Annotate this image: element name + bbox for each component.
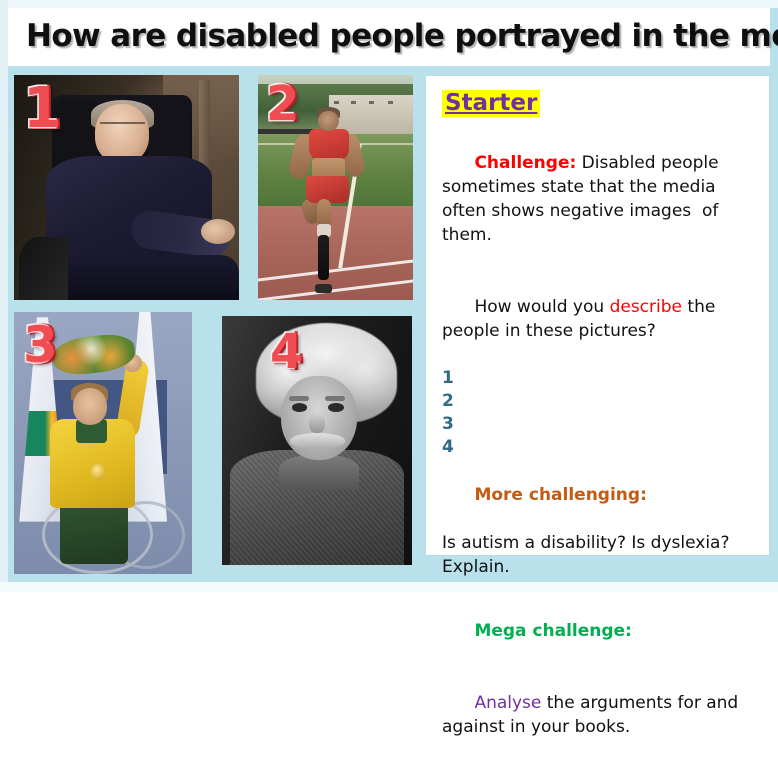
photo2-track bbox=[258, 206, 413, 301]
starter-heading-row: Starter bbox=[442, 90, 755, 127]
photo4-eyebrow-right bbox=[325, 396, 346, 401]
photo4-nose bbox=[309, 413, 324, 433]
mega-challenge-label: Mega challenge: bbox=[442, 595, 755, 667]
photo4-eye-right bbox=[328, 403, 343, 412]
photo2-sports-top bbox=[309, 129, 349, 161]
photo-number-2: 2 bbox=[266, 80, 299, 128]
describe-question: How would you describe the people in the… bbox=[442, 271, 755, 367]
photo2-window bbox=[351, 101, 356, 104]
photo3-head bbox=[73, 388, 107, 425]
mega-challenge-label-text: Mega challenge: bbox=[474, 621, 631, 641]
answer-slot-1: 1 bbox=[442, 367, 755, 390]
photo1-glasses bbox=[100, 122, 145, 131]
photo2-window bbox=[388, 101, 393, 104]
photo2-head bbox=[318, 111, 338, 131]
more-challenging-label: More challenging: bbox=[442, 459, 755, 531]
mega-challenge-text: Analyse the arguments for and against in… bbox=[442, 667, 755, 763]
photo-number-4: 4 bbox=[270, 328, 303, 376]
challenge-paragraph: Challenge: Disabled people sometimes sta… bbox=[442, 127, 755, 271]
photo-paralympic-runner-prosthetic: 2 bbox=[258, 75, 413, 300]
photo-wheelchair-medal-ceremony: 3 bbox=[14, 312, 192, 574]
challenge-label: Challenge: bbox=[474, 153, 576, 173]
panel-spacer bbox=[442, 579, 755, 595]
slide-frame-top bbox=[0, 0, 778, 8]
photo1-hand bbox=[201, 219, 235, 244]
photo2-lane-line bbox=[258, 276, 413, 300]
photo-albert-einstein: 4 bbox=[222, 316, 412, 565]
answer-slot-4: 4 bbox=[442, 436, 755, 459]
answer-slot-3: 3 bbox=[442, 413, 755, 436]
photo3-gold-medal bbox=[91, 464, 105, 480]
photo2-window bbox=[334, 101, 339, 104]
photo2-lane-line bbox=[258, 255, 413, 284]
starter-text-panel: Starter Challenge: Disabled people somet… bbox=[425, 75, 770, 556]
photo1-wheel bbox=[19, 237, 69, 300]
more-challenging-label-text: More challenging: bbox=[474, 485, 646, 505]
title-band: How are disabled people portrayed in the… bbox=[8, 8, 770, 66]
photo-number-3: 3 bbox=[23, 320, 58, 370]
photo3-trousers bbox=[60, 501, 128, 564]
page-title: How are disabled people portrayed in the… bbox=[26, 18, 774, 54]
photo2-prosthetic-blade bbox=[318, 235, 329, 280]
analyse-keyword: Analyse bbox=[474, 693, 541, 713]
photo2-window bbox=[369, 101, 374, 104]
more-challenging-text: Is autism a disability? Is dyslexia? Exp… bbox=[442, 531, 755, 579]
photo4-collar bbox=[279, 455, 359, 490]
starter-heading: Starter bbox=[442, 90, 540, 117]
describe-keyword: describe bbox=[610, 297, 682, 317]
photo4-eyebrow-left bbox=[289, 396, 310, 401]
photo4-moustache bbox=[290, 433, 345, 448]
photo-stephen-hawking-wheelchair: 1 bbox=[14, 75, 239, 300]
slide-frame-left bbox=[0, 0, 8, 592]
photo1-head bbox=[95, 104, 149, 163]
slide: How are disabled people portrayed in the… bbox=[0, 0, 778, 592]
answer-slot-2: 2 bbox=[442, 390, 755, 413]
describe-question-prefix: How would you bbox=[474, 297, 609, 317]
photo2-prosthetic-foot bbox=[315, 284, 332, 293]
photo-number-1: 1 bbox=[23, 81, 62, 137]
